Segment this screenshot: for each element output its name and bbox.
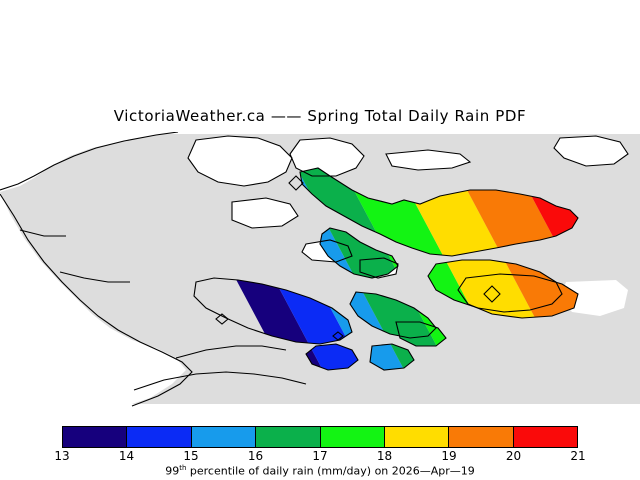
colorbar-tick-labels: 131415161718192021 bbox=[0, 449, 640, 463]
colorbar-tick-16: 16 bbox=[248, 449, 263, 463]
caption-rest: percentile of daily rain (mm/day) on 202… bbox=[186, 465, 474, 478]
colorbar-area: 131415161718192021 99th percentile of da… bbox=[0, 420, 640, 480]
colorbar[interactable] bbox=[62, 426, 578, 448]
colorbar-tick-19: 19 bbox=[441, 449, 456, 463]
page-title: VictoriaWeather.ca —— Spring Total Daily… bbox=[0, 107, 640, 125]
colorbar-tick-21: 21 bbox=[570, 449, 585, 463]
weather-map[interactable] bbox=[0, 132, 640, 408]
screenshot-root: VictoriaWeather.ca —— Spring Total Daily… bbox=[0, 0, 640, 480]
colorbar-segment-16-17[interactable] bbox=[256, 427, 320, 447]
colorbar-segment-18-19[interactable] bbox=[385, 427, 449, 447]
colorbar-tick-13: 13 bbox=[54, 449, 69, 463]
colorbar-segment-14-15[interactable] bbox=[127, 427, 191, 447]
map-panel[interactable] bbox=[0, 132, 640, 408]
colorbar-segment-17-18[interactable] bbox=[321, 427, 385, 447]
colorbar-tick-14: 14 bbox=[119, 449, 134, 463]
colorbar-tick-17: 17 bbox=[312, 449, 327, 463]
colorbar-segment-15-16[interactable] bbox=[192, 427, 256, 447]
caption-percentile-number: 99 bbox=[165, 465, 179, 478]
colorbar-tick-15: 15 bbox=[183, 449, 198, 463]
colorbar-segment-13-14[interactable] bbox=[63, 427, 127, 447]
colorbar-caption: 99th percentile of daily rain (mm/day) o… bbox=[0, 464, 640, 478]
colorbar-segment-20-21[interactable] bbox=[514, 427, 577, 447]
colorbar-tick-20: 20 bbox=[506, 449, 521, 463]
colorbar-segment-19-20[interactable] bbox=[449, 427, 513, 447]
colorbar-tick-18: 18 bbox=[377, 449, 392, 463]
